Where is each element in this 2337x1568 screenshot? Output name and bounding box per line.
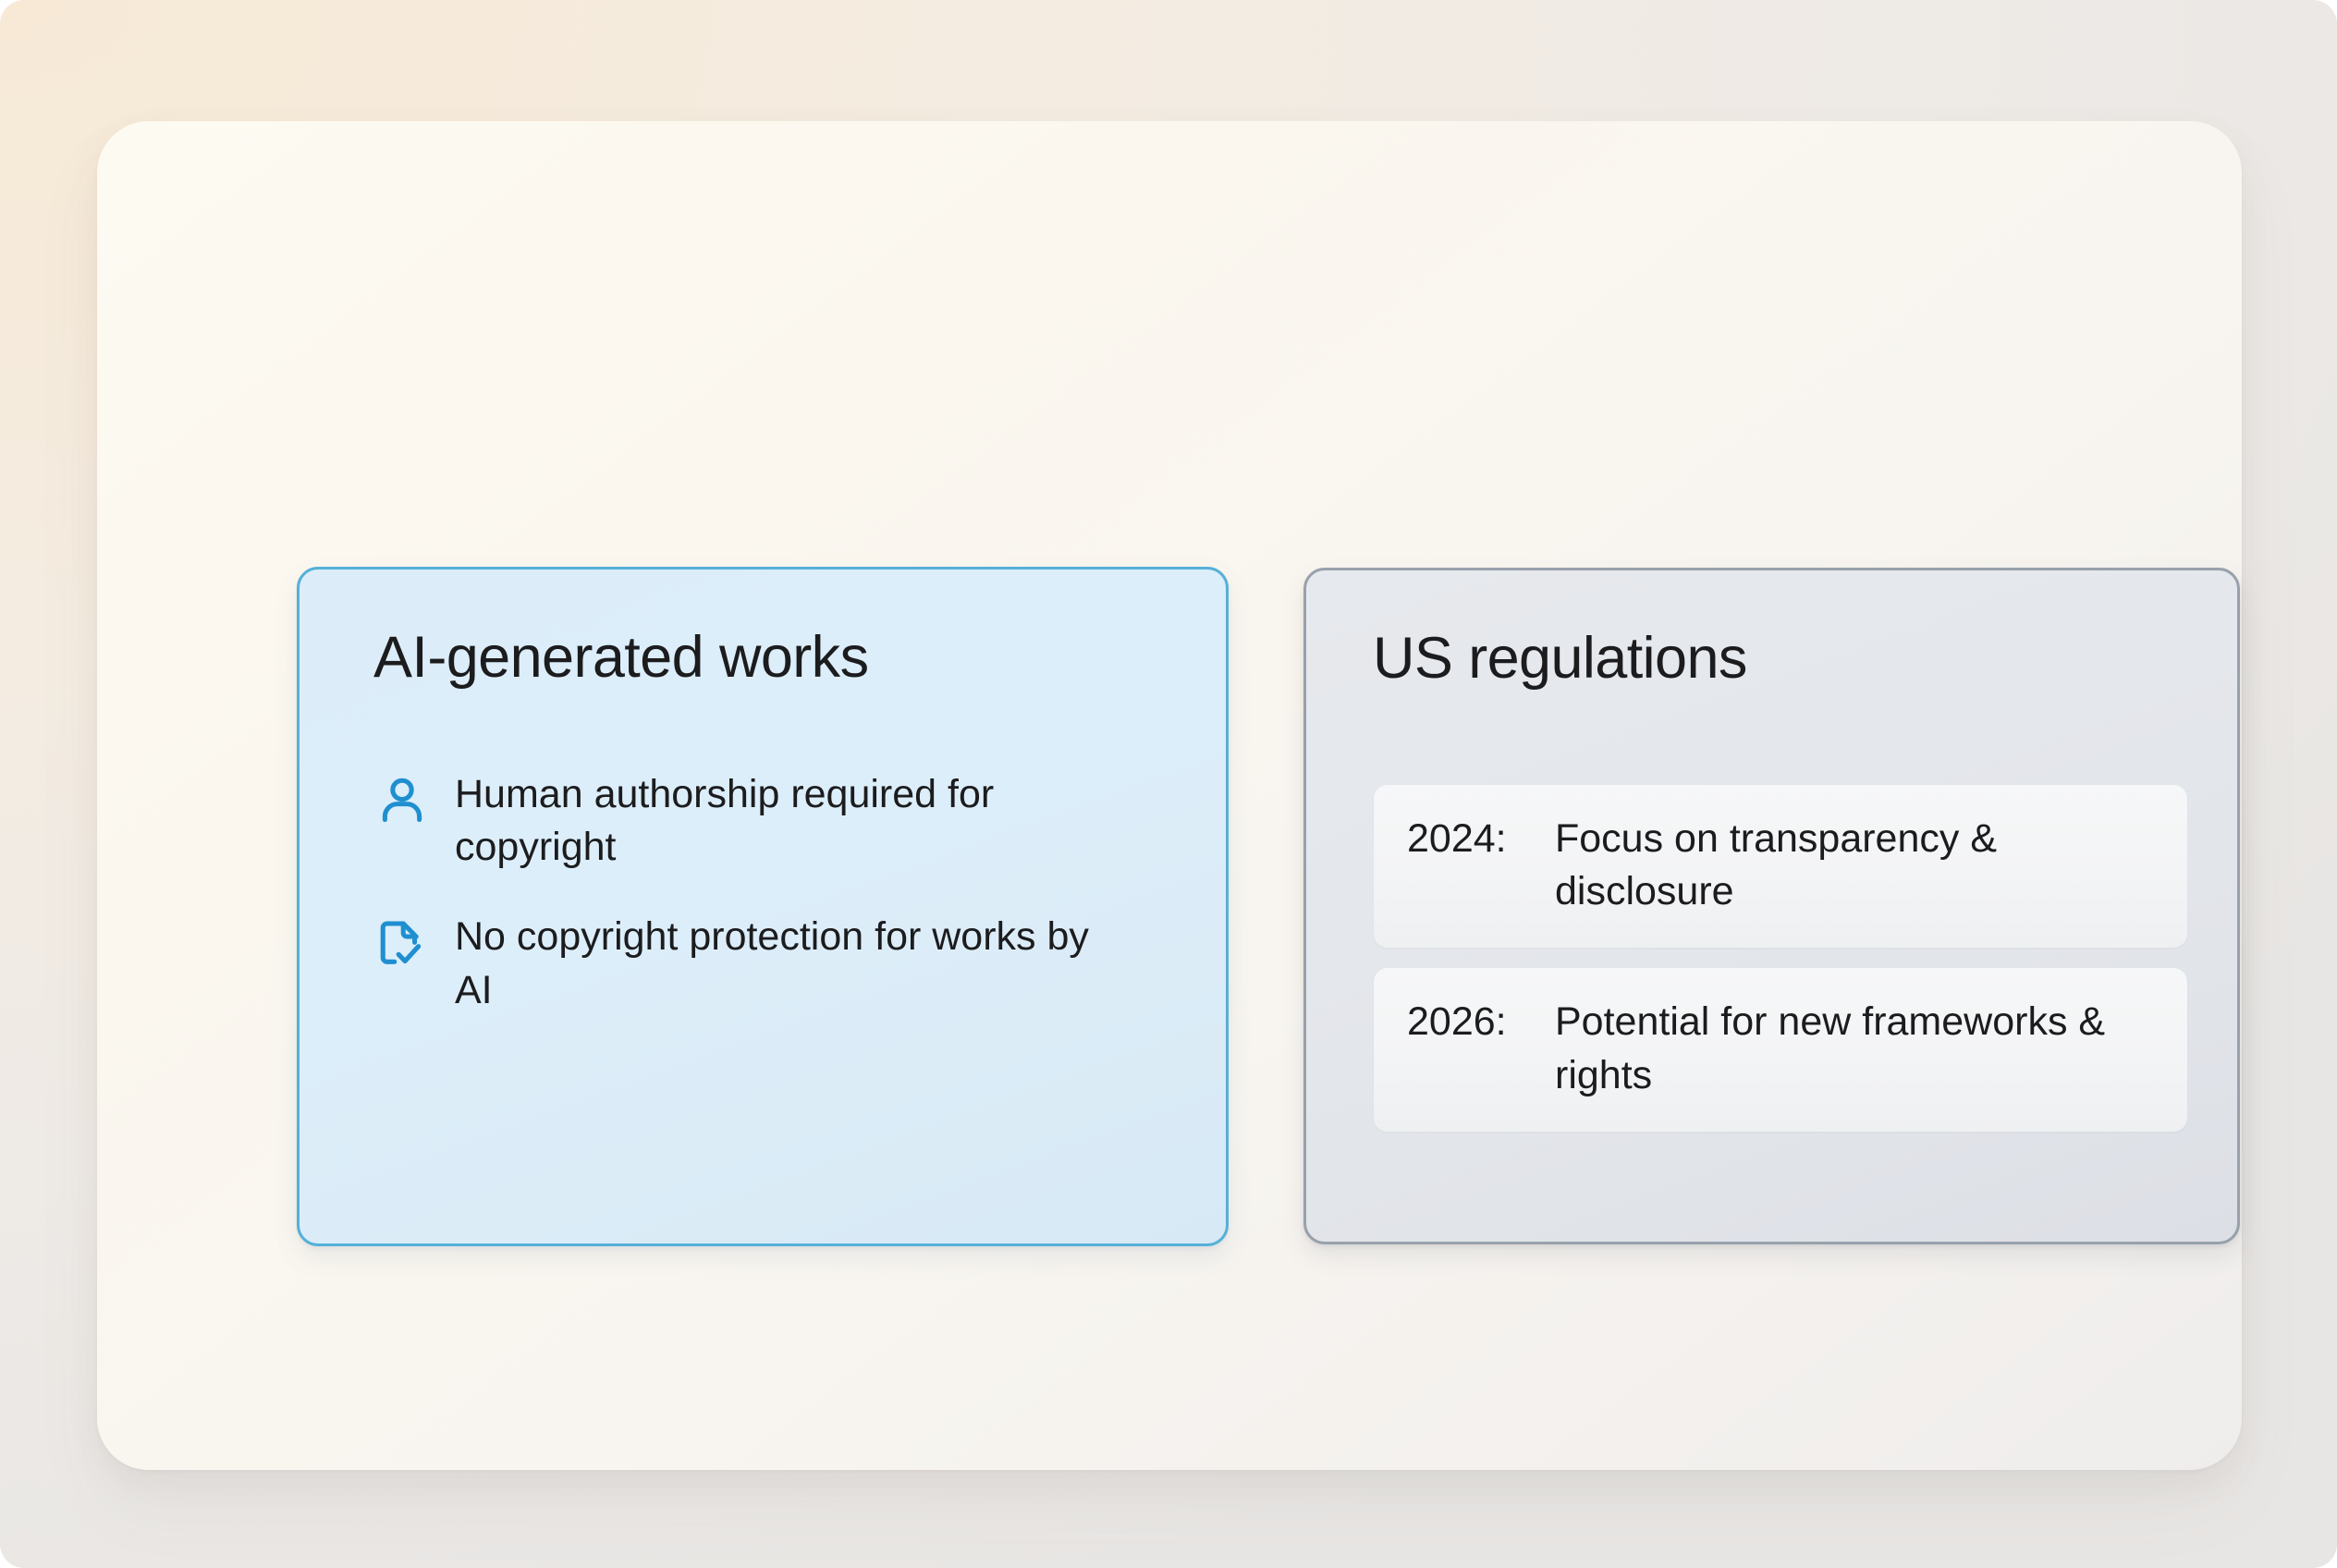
- list-item[interactable]: No copyright protection for works by AI: [375, 911, 1152, 1016]
- card-us-title: US regulations: [1373, 628, 1747, 690]
- regulation-description: Potential for new frameworks & rights: [1536, 996, 2156, 1101]
- table-row[interactable]: 2026: Potential for new frameworks & rig…: [1374, 968, 2187, 1131]
- card-ai-title: AI-generated works: [373, 627, 868, 689]
- slide-canvas: AI-generated works Human authorship requ…: [0, 0, 2337, 1568]
- regulation-year: 2024:: [1407, 813, 1536, 865]
- document-check-icon: [375, 916, 429, 970]
- ai-bullet-list: Human authorship required for copyright …: [375, 768, 1152, 1017]
- regulation-description: Focus on transparency & disclosure: [1536, 813, 2156, 918]
- card-ai-generated-works[interactable]: AI-generated works Human authorship requ…: [297, 567, 1229, 1246]
- list-item-label: Human authorship required for copyright: [455, 768, 1102, 874]
- list-item-label: No copyright protection for works by AI: [455, 911, 1102, 1016]
- regulation-year: 2026:: [1407, 996, 1536, 1048]
- us-regulations-list: 2024: Focus on transparency & disclosure…: [1374, 785, 2187, 1132]
- person-icon: [375, 774, 429, 827]
- card-us-regulations[interactable]: US regulations 2024: Focus on transparen…: [1303, 568, 2240, 1244]
- content-panel: AI-generated works Human authorship requ…: [97, 121, 2242, 1470]
- list-item[interactable]: Human authorship required for copyright: [375, 768, 1152, 874]
- table-row[interactable]: 2024: Focus on transparency & disclosure: [1374, 785, 2187, 948]
